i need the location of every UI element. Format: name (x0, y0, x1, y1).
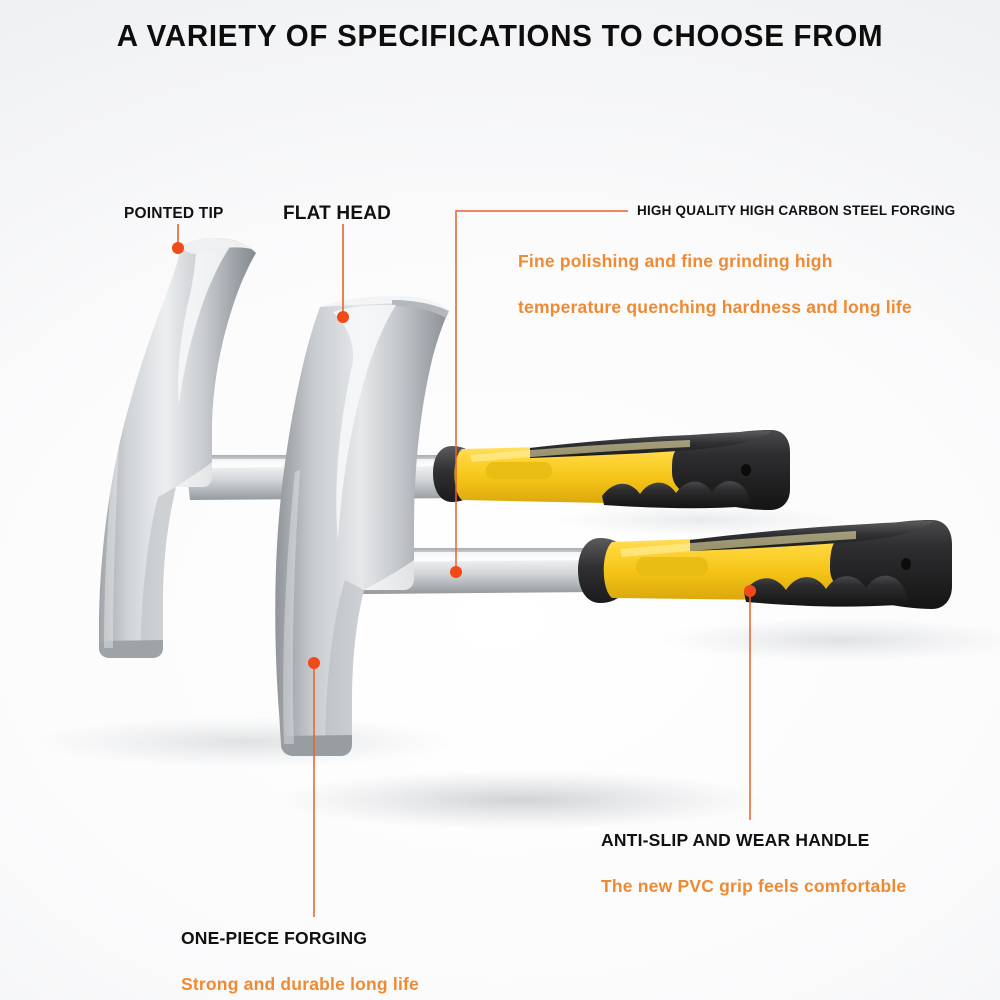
leader-dot-high-carbon-steel (450, 566, 462, 578)
handle-rear-hang-hole (741, 464, 751, 476)
leader-dot-one-piece-forging (308, 657, 320, 669)
callout-sub-high-carbon-steel-line1: Fine polishing and fine grinding high (518, 251, 833, 271)
leader-dot-flat-head (337, 311, 349, 323)
callout-label-anti-slip-handle: ANTI-SLIP AND WEAR HANDLE (601, 830, 869, 850)
leader-dot-anti-slip-handle (744, 585, 756, 597)
callout-sub-one-piece-forging: Strong and durable long life (181, 974, 419, 994)
handle-front-thumb-pad (636, 557, 708, 576)
callout-label-pointed-tip: POINTED TIP (124, 205, 224, 223)
product-infographic: A VARIETY OF SPECIFICATIONS TO CHOOSE FR… (0, 0, 1000, 1000)
handle-front-hang-hole (901, 558, 911, 570)
handle-rear (433, 430, 792, 510)
callout-label-high-carbon-steel: HIGH QUALITY HIGH CARBON STEEL FORGING (637, 203, 955, 219)
callout-label-one-piece-forging: ONE-PIECE FORGING (181, 928, 367, 948)
callout-sub-high-carbon-steel-line2: temperature quenching hardness and long … (518, 297, 912, 317)
leader-dot-pointed-tip (172, 242, 184, 254)
hammer-rear-head (99, 238, 256, 658)
hammer-front (275, 296, 600, 756)
callout-sub-anti-slip-handle: The new PVC grip feels comfortable (601, 876, 906, 896)
handle-rear-thumb-pad (486, 462, 552, 479)
callout-label-flat-head: FLAT HEAD (283, 203, 391, 225)
